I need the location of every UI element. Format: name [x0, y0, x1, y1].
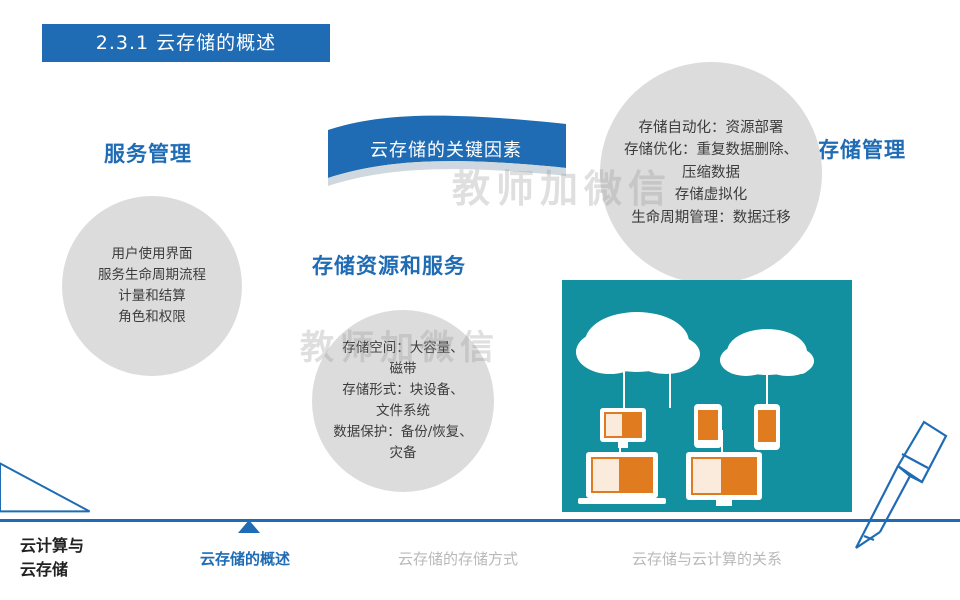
circle-service-management: 用户使用界面 服务生命周期流程 计量和结算 角色和权限 — [62, 196, 242, 376]
circle-item: 存储形式：块设备、 — [342, 380, 464, 401]
circle-item: 压缩数据 — [682, 162, 740, 184]
footer-nav-item-storage-methods[interactable]: 云存储的存储方式 — [398, 548, 518, 569]
active-nav-marker-icon — [238, 520, 260, 533]
page-title: 2.3.1 云存储的概述 — [42, 24, 330, 62]
circle-item: 数据保护：备份/恢复、 — [333, 422, 473, 443]
circle-storage-management: 存储自动化：资源部署 存储优化：重复数据删除、 压缩数据 存储虚拟化 生命周期管… — [600, 62, 822, 284]
heading-storage-management: 存储管理 — [818, 134, 906, 164]
ribbon-label: 云存储的关键因素 — [322, 136, 570, 162]
circle-item: 生命周期管理：数据迁移 — [631, 207, 791, 229]
slide-canvas: 2.3.1 云存储的概述 云存储的关键因素 服务管理 存储资源和服务 存储管理 … — [0, 0, 960, 600]
circle-item: 灾备 — [390, 443, 417, 464]
cloud-illustration-icon — [562, 280, 852, 512]
pencil-icon — [840, 410, 960, 560]
circle-item: 存储空间：大容量、 — [342, 338, 464, 359]
cloud-devices-illustration — [562, 280, 852, 512]
footer-nav-item-overview[interactable]: 云存储的概述 — [200, 548, 290, 569]
circle-item: 角色和权限 — [118, 307, 186, 328]
circle-item: 存储优化：重复数据删除、 — [624, 139, 798, 161]
footer-nav-item-relationship[interactable]: 云存储与云计算的关系 — [632, 548, 782, 569]
circle-item: 服务生命周期流程 — [98, 265, 206, 286]
circle-item: 存储自动化：资源部署 — [639, 117, 784, 139]
brand-line-2: 云存储 — [20, 558, 84, 582]
circle-storage-resources: 存储空间：大容量、 磁带 存储形式：块设备、 文件系统 数据保护：备份/恢复、 … — [312, 310, 494, 492]
footer-brand: 云计算与 云存储 — [20, 534, 84, 582]
heading-storage-resources: 存储资源和服务 — [312, 250, 466, 280]
footer-diagonal-decor — [0, 458, 160, 520]
footer-rule — [0, 519, 960, 522]
brand-line-1: 云计算与 — [20, 534, 84, 558]
circle-item: 磁带 — [390, 359, 417, 380]
circle-item: 计量和结算 — [118, 286, 186, 307]
key-factors-ribbon: 云存储的关键因素 — [322, 110, 570, 188]
circle-item: 用户使用界面 — [112, 244, 193, 265]
circle-item: 存储虚拟化 — [675, 184, 748, 206]
heading-service-management: 服务管理 — [104, 138, 192, 168]
circle-item: 文件系统 — [376, 401, 430, 422]
slide-title-banner: 2.3.1 云存储的概述 — [42, 24, 330, 62]
